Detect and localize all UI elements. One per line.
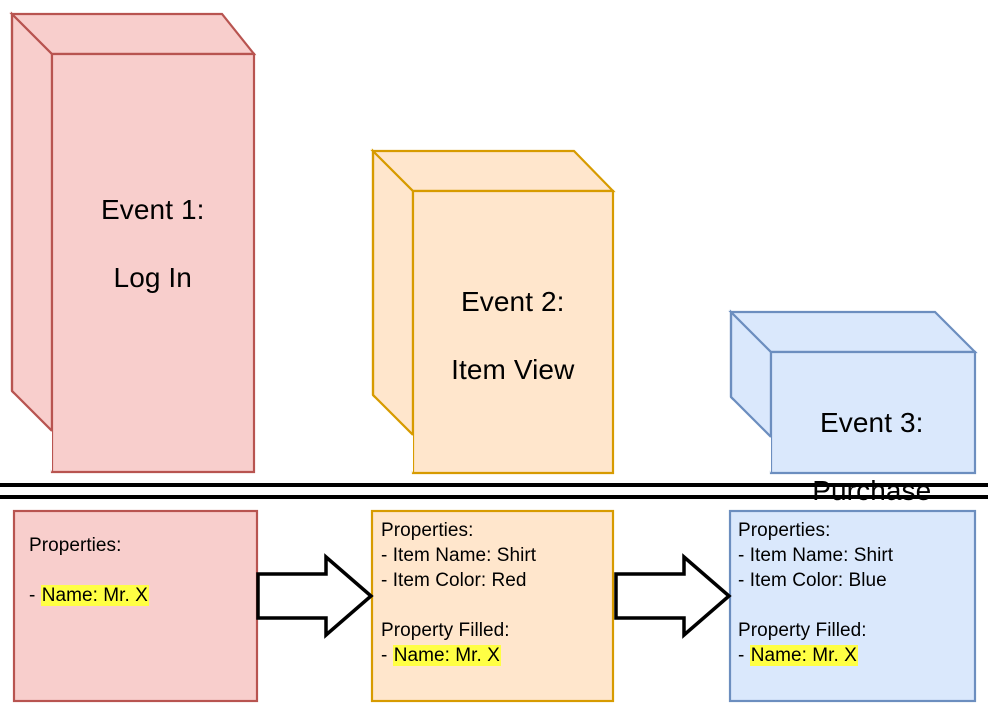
property-value: Item Color: Blue [750,570,887,591]
property-line: - Name: Mr. X [381,643,536,668]
property-value-highlighted: Name: Mr. X [41,585,149,606]
event-1-label-line2: Log In [114,262,192,293]
property-value: Properties: [29,535,121,556]
property-line: - Name: Mr. X [738,643,893,668]
property-bullet: - [381,645,393,666]
properties-box-1-text: Properties: - Name: Mr. X [29,533,149,608]
properties-box-2-text: Properties:- Item Name: Shirt- Item Colo… [381,518,536,668]
property-line: - Item Name: Shirt [381,543,536,568]
arrow-2-to-3-icon[interactable] [616,557,729,635]
property-value-highlighted: Name: Mr. X [750,645,858,666]
property-bullet: - [738,545,750,566]
property-value: Property Filled: [738,620,867,641]
event-3-label-line1: Event 3: [820,407,924,438]
property-value: Properties: [738,520,830,541]
property-line: - Item Name: Shirt [738,543,893,568]
property-line: Property Filled: [381,618,536,643]
property-value: Item Name: Shirt [750,545,893,566]
property-line: Properties: [381,518,536,543]
event-1-label: Event 1: Log In [32,159,242,329]
property-value: Item Name: Shirt [393,545,536,566]
event-1-label-line1: Event 1: [101,194,205,225]
property-line [738,593,893,618]
property-line [29,558,149,583]
property-line: - Name: Mr. X [29,583,149,608]
event-2-cube-top-face [373,151,613,191]
property-line: Property Filled: [738,618,893,643]
property-bullet: - [738,570,750,591]
property-value-highlighted: Name: Mr. X [393,645,501,666]
property-bullet: - [29,585,41,606]
property-line: Properties: [738,518,893,543]
property-value: Item Color: Red [393,570,527,591]
property-bullet: - [738,645,750,666]
event-2-label-line2: Item View [451,354,574,385]
event-2-label: Event 2: Item View [392,251,602,421]
event-2-label-line1: Event 2: [461,286,565,317]
property-value: Property Filled: [381,620,510,641]
property-line [381,593,536,618]
diagram-canvas: Event 1: Log In Event 2: Item View Event… [0,0,988,704]
property-bullet: - [381,570,393,591]
properties-box-3-text: Properties:- Item Name: Shirt- Item Colo… [738,518,893,668]
event-1-cube-top-face [12,14,254,54]
event-3-cube-top-face [731,312,975,352]
arrow-1-to-2-icon[interactable] [258,557,371,635]
property-bullet: - [381,545,393,566]
property-line: - Item Color: Red [381,568,536,593]
event-3-label: Event 3: Purchase [750,372,962,542]
property-line: Properties: [29,533,149,558]
property-line: - Item Color: Blue [738,568,893,593]
property-value: Properties: [381,520,473,541]
event-3-label-line2: Purchase [812,475,931,506]
